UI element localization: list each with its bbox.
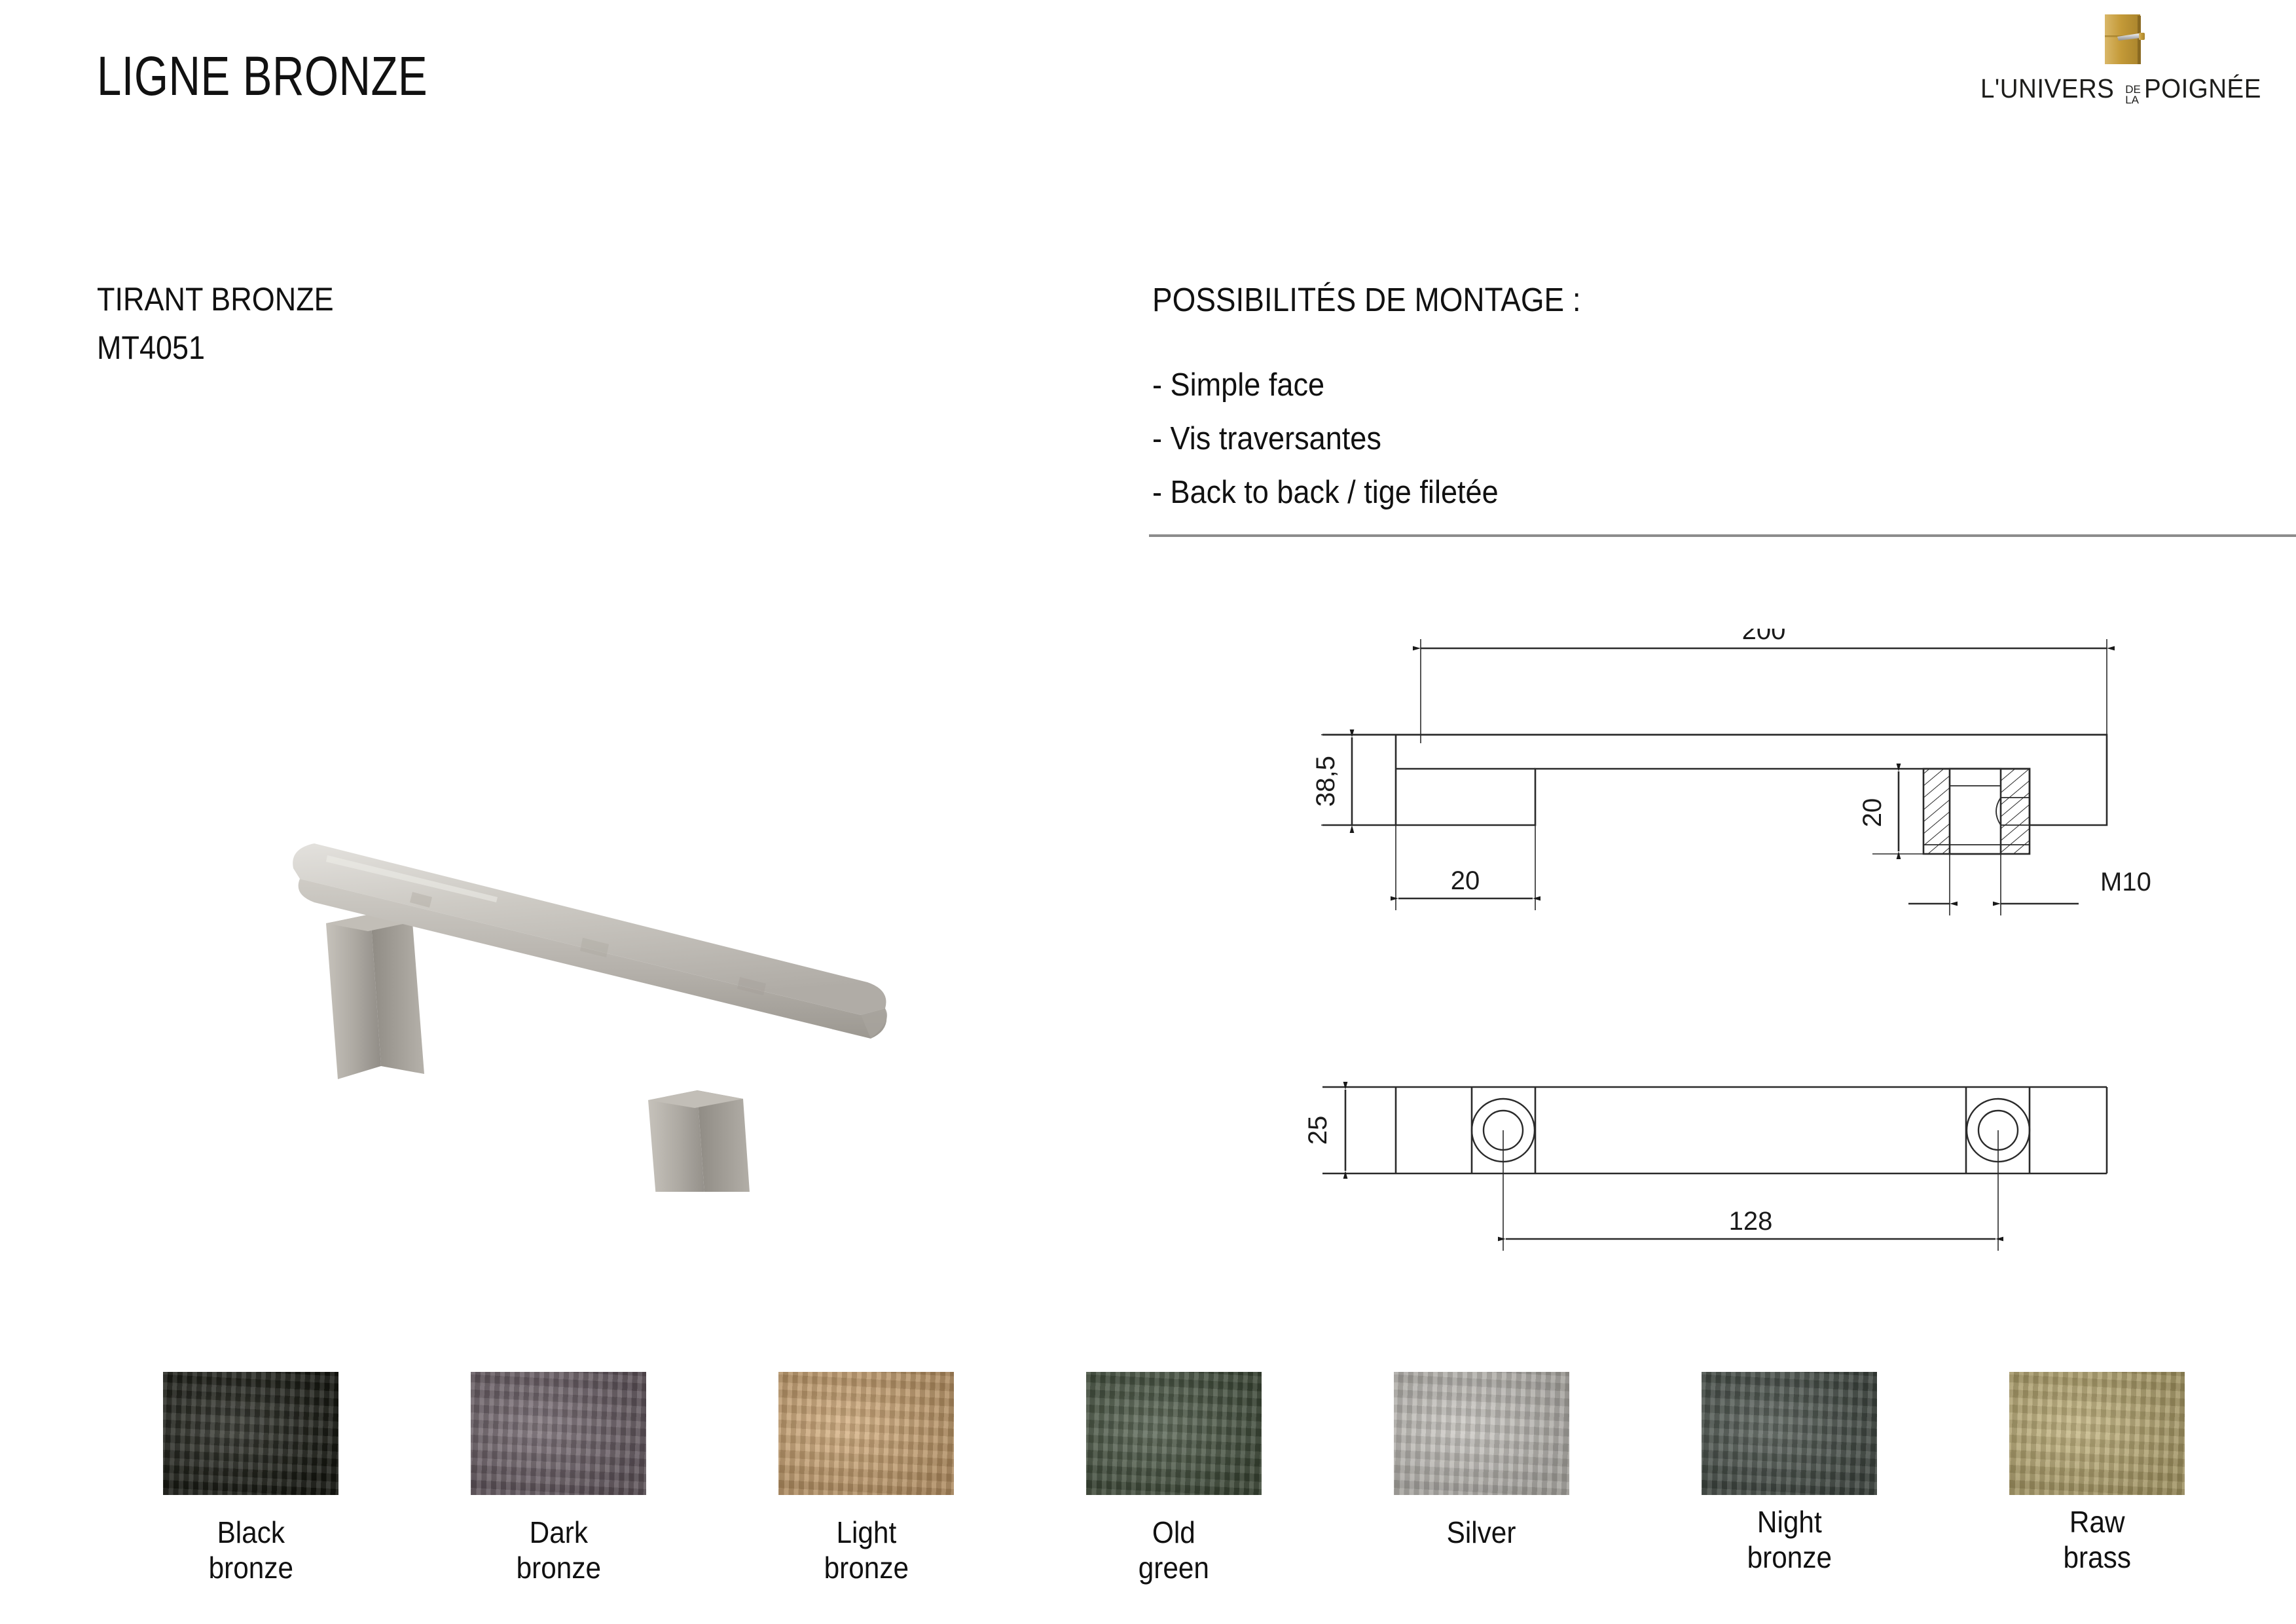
- finish-option[interactable]: Night bronze: [1635, 1372, 1943, 1586]
- finish-swatch[interactable]: [1394, 1372, 1569, 1495]
- mounting-option: - Simple face: [1152, 367, 1499, 403]
- finish-label-line1: Raw: [2063, 1504, 2130, 1540]
- dimension-label-20-boss: 20: [1858, 798, 1887, 828]
- swatch-texture: [1394, 1372, 1569, 1495]
- swatch-texture: [778, 1372, 954, 1495]
- dimension-label-128: 128: [1729, 1207, 1773, 1236]
- product-photo: [216, 733, 969, 1192]
- finish-swatch[interactable]: [1086, 1372, 1262, 1495]
- dimension-label-20-leg: 20: [1451, 866, 1480, 895]
- finish-swatch[interactable]: [2009, 1372, 2185, 1495]
- swatch-texture: [1086, 1372, 1262, 1495]
- finish-option[interactable]: Old green: [1020, 1372, 1328, 1586]
- swatch-texture: [163, 1372, 338, 1495]
- swatch-texture: [1702, 1372, 1877, 1495]
- product-reference: MT4051: [97, 329, 205, 367]
- finish-option[interactable]: Silver: [1328, 1372, 1635, 1586]
- finish-label: Silver: [1447, 1515, 1516, 1550]
- finish-label: Night bronze: [1747, 1504, 1831, 1576]
- technical-drawing-elevation: 200 38,5 20: [1283, 629, 2285, 943]
- finish-label-line2: green: [1139, 1550, 1209, 1585]
- swatch-texture: [2009, 1372, 2185, 1495]
- finish-label-line1: Old: [1139, 1515, 1209, 1550]
- mounting-option: - Back to back / tige filetée: [1152, 474, 1499, 511]
- finish-label: Black bronze: [208, 1515, 293, 1586]
- mounting-options-list: - Simple face - Vis traversantes - Back …: [1152, 367, 1529, 528]
- dimension-label-38-5: 38,5: [1311, 756, 1340, 807]
- finish-swatch[interactable]: [778, 1372, 954, 1495]
- finish-label-line2: bronze: [824, 1550, 908, 1585]
- finish-label-line2: bronze: [208, 1550, 293, 1585]
- finish-label: Light bronze: [824, 1515, 908, 1586]
- finish-options-row: Black bronze Dark bronze Light bronze Ol…: [97, 1372, 2251, 1586]
- finish-label-line1: Night: [1747, 1504, 1831, 1540]
- logo-wordmark: L'UNIVERS DE LA POIGNÉE: [1980, 73, 2269, 109]
- dimension-label-200: 200: [1742, 629, 1786, 645]
- finish-option[interactable]: Dark bronze: [405, 1372, 712, 1586]
- logo-text-dela: DE LA: [2125, 84, 2141, 105]
- dimension-label-m10: M10: [2100, 868, 2151, 896]
- finish-label-line1: Silver: [1447, 1515, 1516, 1550]
- brand-logo: L'UNIVERS DE LA POIGNÉE: [1961, 9, 2288, 109]
- finish-label-line1: Dark: [516, 1515, 600, 1550]
- swatch-texture: [471, 1372, 646, 1495]
- finish-label-line1: Light: [824, 1515, 908, 1550]
- finish-option[interactable]: Light bronze: [712, 1372, 1020, 1586]
- logo-text-univers: L'UNIVERS: [1980, 73, 2114, 104]
- finish-label: Dark bronze: [516, 1515, 600, 1586]
- logo-text-poignee: POIGNÉE: [2144, 73, 2261, 104]
- logo-text-la: LA: [2125, 95, 2141, 105]
- finish-swatch[interactable]: [1702, 1372, 1877, 1495]
- finish-swatch[interactable]: [163, 1372, 338, 1495]
- finish-label-line1: Black: [208, 1515, 293, 1550]
- technical-drawing-plan: 25 128: [1283, 1061, 2285, 1277]
- product-name: TIRANT BRONZE: [97, 280, 334, 318]
- finish-label: Old green: [1139, 1515, 1209, 1586]
- finish-label: Raw brass: [2063, 1504, 2130, 1576]
- finish-swatch[interactable]: [471, 1372, 646, 1495]
- mounting-option: - Vis traversantes: [1152, 420, 1499, 457]
- mounting-options-title: POSSIBILITÉS DE MONTAGE :: [1152, 280, 1581, 319]
- finish-label-line2: brass: [2063, 1540, 2130, 1575]
- finish-option[interactable]: Raw brass: [1943, 1372, 2251, 1586]
- section-divider: [1149, 534, 2296, 537]
- finish-label-line2: bronze: [516, 1550, 600, 1585]
- dimension-label-25: 25: [1303, 1116, 1332, 1145]
- finish-option[interactable]: Black bronze: [97, 1372, 405, 1586]
- finish-label-line2: bronze: [1747, 1540, 1831, 1575]
- page-title: LIGNE BRONZE: [97, 45, 428, 108]
- door-with-handle-icon: [2094, 9, 2155, 69]
